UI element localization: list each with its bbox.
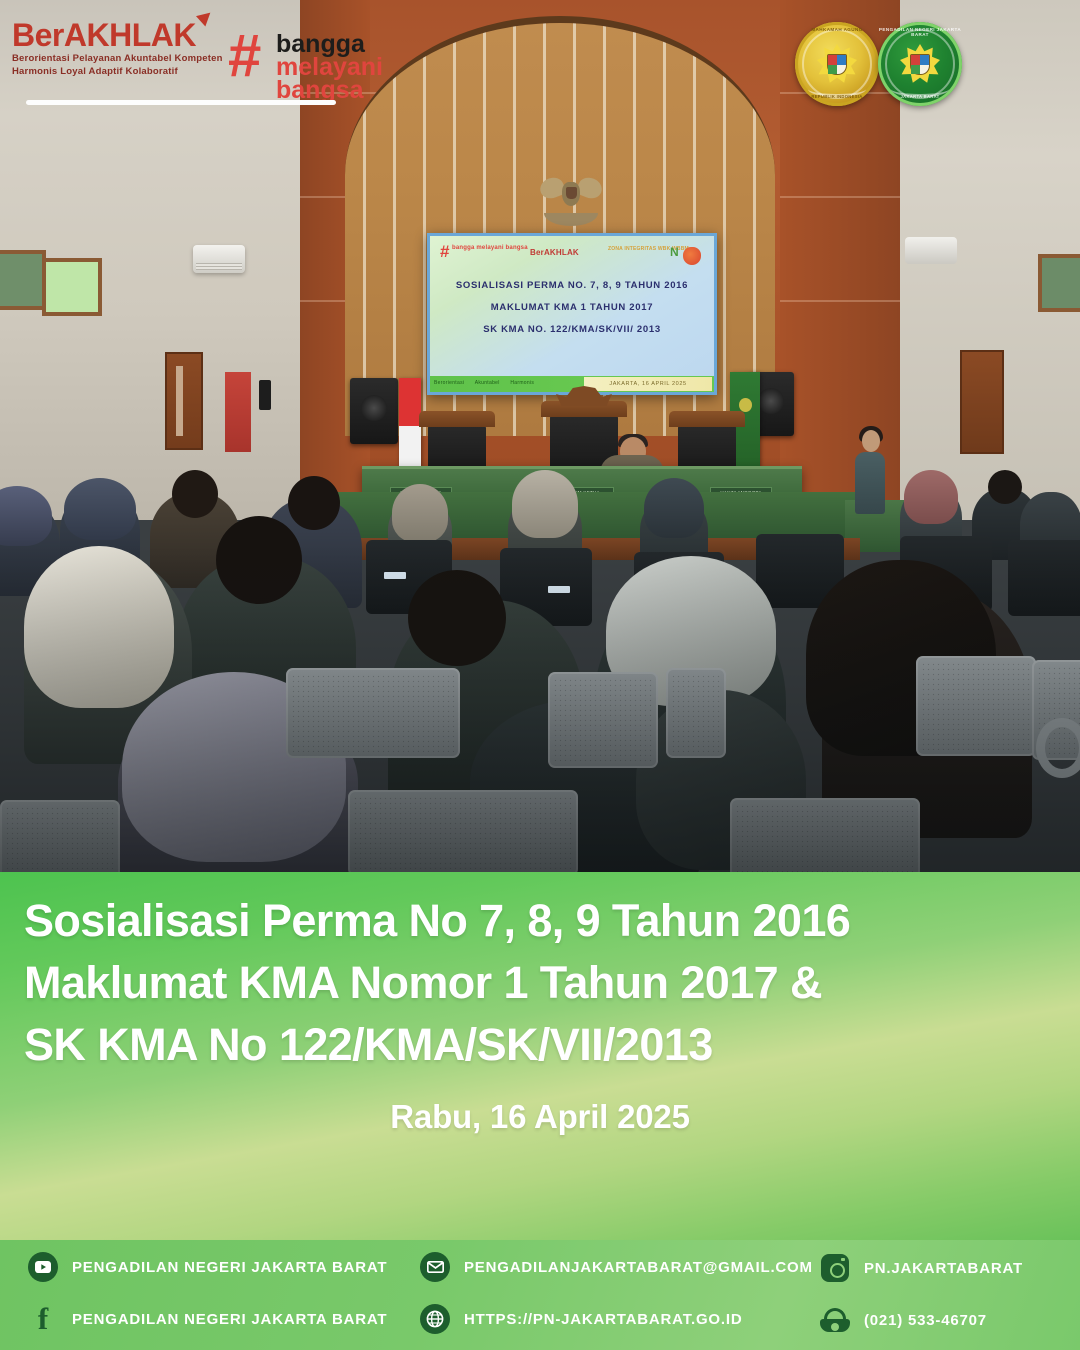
wood-seam bbox=[780, 196, 900, 198]
telephone-icon bbox=[820, 1305, 850, 1335]
facebook-label: PENGADILAN NEGERI JAKARTA BARAT bbox=[72, 1311, 387, 1328]
contact-footer: PENGADILAN NEGERI JAKARTA BARAT f PENGAD… bbox=[0, 1240, 1080, 1350]
slide-footer-item: Berorientasi bbox=[434, 380, 464, 386]
title-block: Sosialisasi Perma No 7, 8, 9 Tahun 2016 … bbox=[0, 890, 1080, 1136]
slide-date-box: JAKARTA, 16 APRIL 2025 bbox=[584, 377, 712, 391]
audience-hijab bbox=[904, 470, 958, 524]
audience-hijab bbox=[512, 470, 578, 538]
slide-text-block: SOSIALISASI PERMA NO. 7, 8, 9 TAHUN 2016… bbox=[430, 280, 714, 346]
audience-hijab bbox=[644, 478, 704, 538]
event-photo: # bangga melayani bangsa BerAKHLAK ZONA … bbox=[0, 0, 1080, 872]
berakhlak-tagline-2: Harmonis Loyal Adaptif Kolaboratif bbox=[12, 66, 223, 78]
bangga-melayani-bangsa-logo: # bangga melayani bangsa bbox=[228, 20, 408, 96]
seal-gold-bottom-text: REPUBLIK INDONESIA bbox=[795, 94, 879, 99]
website-label: HTTPS://PN-JAKARTABARAT.GO.ID bbox=[464, 1311, 742, 1328]
window-right bbox=[1038, 254, 1080, 312]
standing-person-head bbox=[862, 430, 880, 452]
projector-screen: # bangga melayani bangsa BerAKHLAK ZONA … bbox=[427, 233, 717, 395]
audience-head bbox=[288, 476, 340, 530]
audience-head bbox=[988, 470, 1022, 504]
garuda-emblem bbox=[540, 172, 602, 226]
door-right bbox=[960, 350, 1004, 454]
title-line-2: Maklumat KMA Nomor 1 Tahun 2017 & bbox=[24, 952, 1056, 1014]
slide-footer-item: Harmonis bbox=[510, 380, 534, 386]
slide-logo-row: # bangga melayani bangsa BerAKHLAK ZONA … bbox=[430, 240, 714, 270]
window-left-2 bbox=[42, 258, 102, 316]
instagram-icon bbox=[820, 1253, 850, 1283]
footer-youtube[interactable]: PENGADILAN NEGERI JAKARTA BARAT bbox=[28, 1252, 387, 1282]
slide-logo-berakhlak: BerAKHLAK bbox=[530, 248, 579, 257]
pengadilan-negeri-seal: PENGADILAN NEGERI JAKARTA BARAT JAKARTA … bbox=[878, 22, 962, 106]
instagram-label: PN.JAKARTABARAT bbox=[864, 1260, 1023, 1277]
mahkamah-agung-seal: MAHKAMAH AGUNG REPUBLIK INDONESIA bbox=[795, 22, 879, 106]
wall-poster bbox=[225, 372, 251, 452]
youtube-icon bbox=[28, 1252, 58, 1282]
footer-phone[interactable]: (021) 533-46707 bbox=[820, 1305, 987, 1335]
speaker-left bbox=[350, 378, 398, 444]
footer-website[interactable]: HTTPS://PN-JAKARTABARAT.GO.ID bbox=[420, 1304, 742, 1334]
phone-label: (021) 533-46707 bbox=[864, 1312, 987, 1329]
audience-hijab bbox=[392, 484, 448, 542]
youtube-label: PENGADILAN NEGERI JAKARTA BARAT bbox=[72, 1259, 387, 1276]
title-line-3: SK KMA No 122/KMA/SK/VII/2013 bbox=[24, 1014, 1056, 1076]
hash-icon: # bbox=[228, 26, 261, 86]
photo-vignette bbox=[0, 542, 1080, 872]
slide-footer-items: Berorientasi Akuntabel Harmonis bbox=[434, 380, 543, 386]
footer-facebook[interactable]: f PENGADILAN NEGERI JAKARTA BARAT bbox=[28, 1304, 387, 1334]
seal-green-top-text: PENGADILAN NEGERI JAKARTA BARAT bbox=[878, 27, 962, 37]
title-line-1: Sosialisasi Perma No 7, 8, 9 Tahun 2016 bbox=[24, 890, 1056, 952]
envelope-icon bbox=[420, 1252, 450, 1282]
slide-line-2: MAKLUMAT KMA 1 TAHUN 2017 bbox=[430, 302, 714, 313]
title-band: Sosialisasi Perma No 7, 8, 9 Tahun 2016 … bbox=[0, 872, 1080, 1240]
slide-footer-item: Akuntabel bbox=[475, 380, 500, 386]
standing-person bbox=[855, 452, 885, 514]
header-logos: BerAKHLAK Berorientasi Pelayanan Akuntab… bbox=[0, 0, 1080, 120]
slide-logo-bangga: bangga melayani bangsa bbox=[452, 245, 528, 251]
bangga-hash-icon: # bbox=[440, 244, 452, 260]
indonesian-flag bbox=[399, 378, 421, 478]
audience-hijab bbox=[64, 478, 136, 540]
event-date: Rabu, 16 April 2025 bbox=[24, 1098, 1056, 1136]
wall-monitor bbox=[259, 380, 271, 410]
poster-canvas: # bangga melayani bangsa BerAKHLAK ZONA … bbox=[0, 0, 1080, 1350]
slide-logo-n: N bbox=[670, 245, 679, 259]
hand-icon bbox=[683, 247, 701, 265]
email-label: PENGADILANJAKARTABARAT@GMAIL.COM bbox=[464, 1259, 813, 1276]
window-left-1 bbox=[0, 250, 46, 310]
seal-green-bottom-text: JAKARTA BARAT bbox=[878, 94, 962, 99]
air-conditioner-left bbox=[193, 245, 245, 273]
berakhlak-logo: BerAKHLAK Berorientasi Pelayanan Akuntab… bbox=[12, 18, 223, 78]
audience-head bbox=[172, 470, 218, 518]
berakhlak-wordmark: BerAKHLAK bbox=[12, 18, 196, 52]
air-conditioner-right bbox=[905, 237, 957, 264]
globe-icon bbox=[420, 1304, 450, 1334]
facebook-icon: f bbox=[28, 1304, 58, 1334]
seal-gold-top-text: MAHKAMAH AGUNG bbox=[795, 27, 879, 32]
door-left bbox=[165, 352, 203, 450]
footer-instagram[interactable]: PN.JAKARTABARAT bbox=[820, 1253, 1023, 1283]
berakhlak-tagline-1: Berorientasi Pelayanan Akuntabel Kompete… bbox=[12, 53, 223, 65]
slide-line-1: SOSIALISASI PERMA NO. 7, 8, 9 TAHUN 2016 bbox=[430, 280, 714, 291]
slide-line-3: SK KMA NO. 122/KMA/SK/VII/ 2013 bbox=[430, 324, 714, 335]
wood-seam bbox=[780, 300, 900, 302]
footer-email[interactable]: PENGADILANJAKARTABARAT@GMAIL.COM bbox=[420, 1252, 813, 1282]
header-divider bbox=[26, 100, 336, 105]
